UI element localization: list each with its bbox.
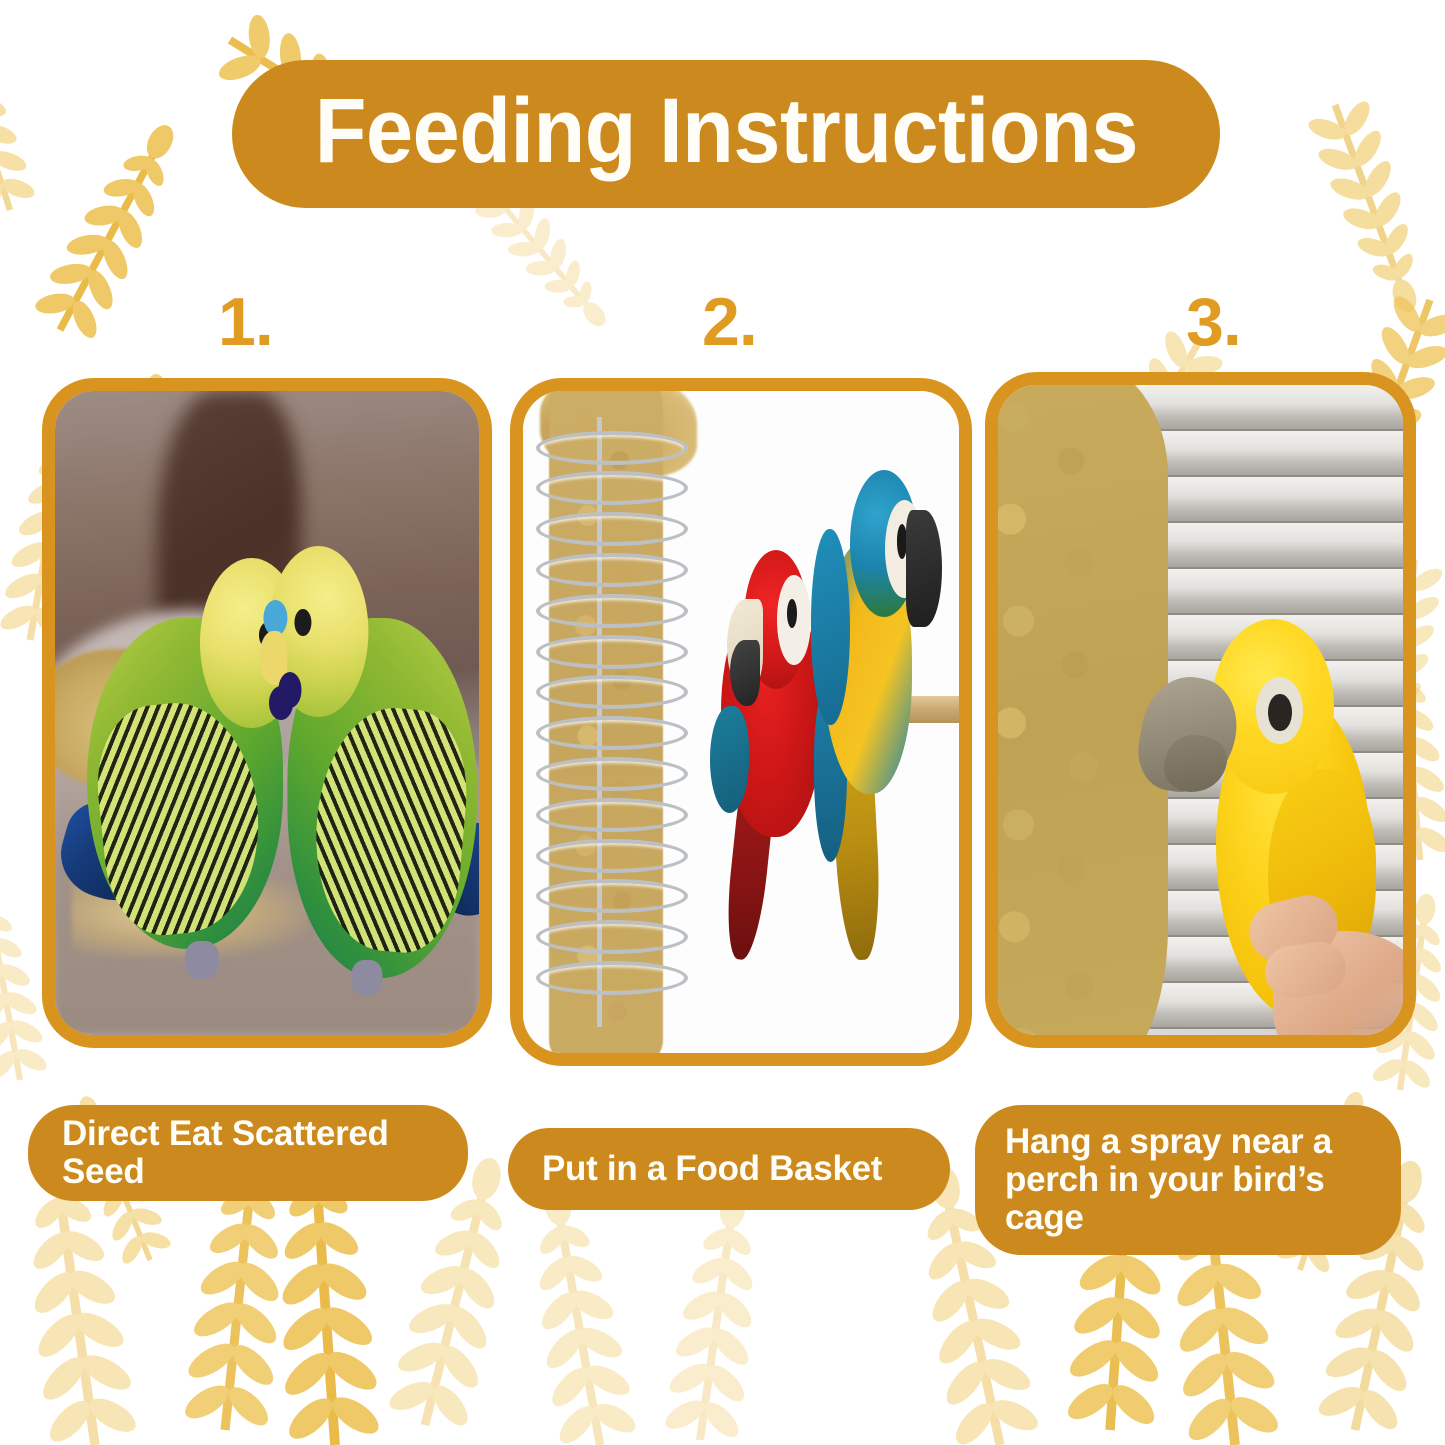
spiral-basket <box>536 431 680 1014</box>
step-1-photo-frame <box>42 378 492 1048</box>
infographic-page: Feeding Instructions 1. 2. 3. <box>0 0 1445 1445</box>
step-number-3: 3. <box>1186 288 1241 356</box>
step-2-photo-food-basket <box>523 391 959 1053</box>
page-title-banner: Feeding Instructions <box>232 60 1220 208</box>
step-3-caption-text: Hang a spray near a perch in your bird’s… <box>1005 1123 1371 1236</box>
step-1-photo-budgerigars <box>55 391 479 1035</box>
step-3-photo-frame <box>985 372 1416 1048</box>
step-2-photo-frame <box>510 378 972 1066</box>
step-3-photo-hanging-spray <box>998 385 1403 1035</box>
page-title: Feeding Instructions <box>314 85 1137 183</box>
step-3-caption: Hang a spray near a perch in your bird’s… <box>975 1105 1401 1255</box>
step-2-caption: Put in a Food Basket <box>508 1128 950 1210</box>
step-number-2: 2. <box>702 288 757 356</box>
step-number-1: 1. <box>218 288 273 356</box>
step-1-caption: Direct Eat Scattered Seed <box>28 1105 468 1201</box>
step-2-caption-text: Put in a Food Basket <box>542 1150 882 1188</box>
step-1-caption-text: Direct Eat Scattered Seed <box>62 1115 434 1191</box>
